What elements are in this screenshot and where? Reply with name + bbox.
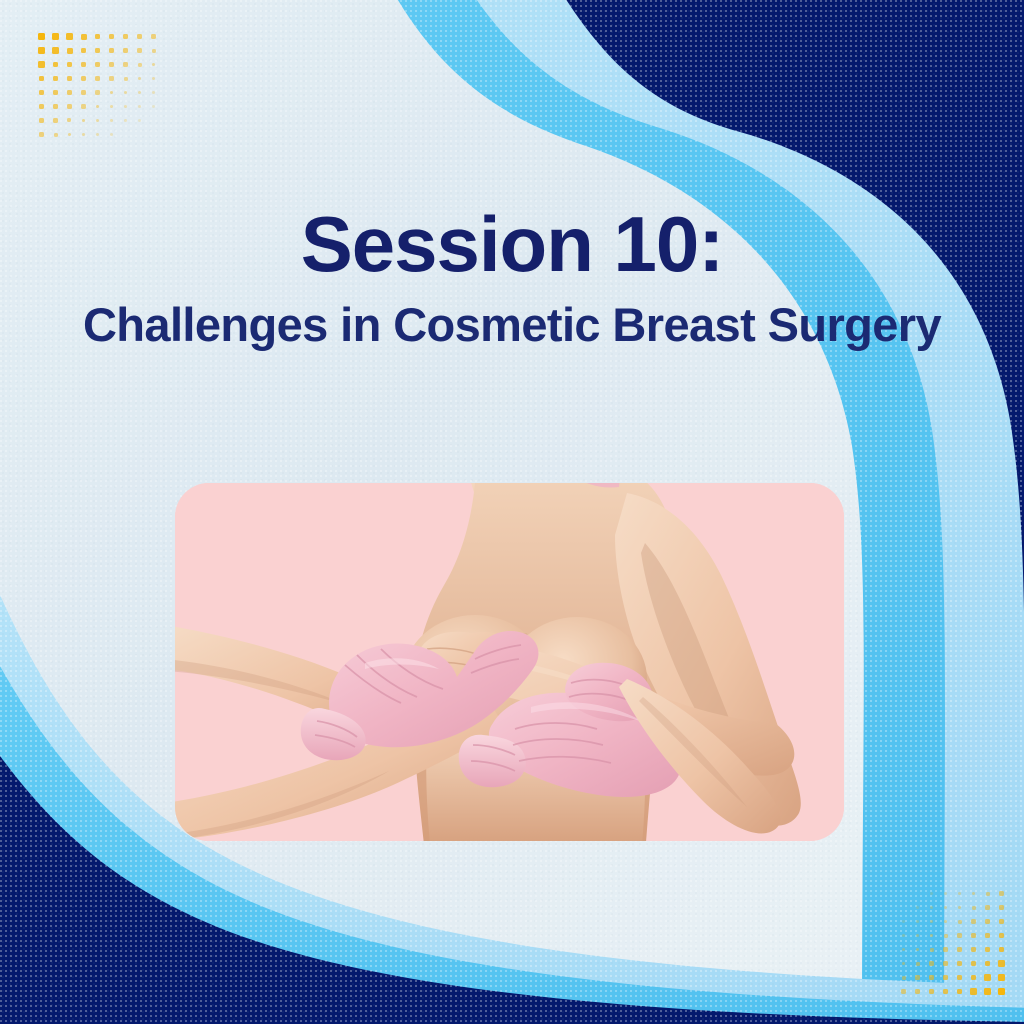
page-title: Session 10: [0,205,1024,285]
dot-grid-dot [930,948,934,952]
dot-grid-dot [944,892,947,895]
dot-grid-dot [901,989,905,993]
dot-grid-dot [39,132,43,136]
dot-grid-dot [152,105,155,108]
dot-grid-dot [138,63,142,67]
dot-grid-dot [152,91,155,94]
dot-grid-dot [81,76,86,81]
dot-grid-dot [81,104,85,108]
dot-grid-top-left [38,33,188,148]
dot-grid-dot [138,105,141,108]
dot-grid-dot [958,906,962,910]
dot-grid-dot [999,919,1004,924]
dot-grid-dot [38,47,45,54]
dot-grid-dot [971,947,976,952]
dot-grid-dot [915,975,919,979]
dot-grid-dot [902,976,906,980]
dot-grid-dot [971,961,977,967]
dot-grid-dot [957,989,963,995]
dot-grid-dot [95,90,99,94]
dot-grid-dot [151,34,155,38]
breast-examination-photo [175,483,844,841]
dot-grid-dot [984,988,991,995]
dot-grid-dot [124,119,127,122]
dot-grid-dot [986,892,990,896]
dot-grid-dot [38,61,44,67]
dot-grid-dot [958,920,962,924]
dot-grid-dot [66,33,72,39]
dot-grid-dot [81,62,86,67]
dot-grid-dot [39,118,44,123]
dot-grid-dot [970,988,976,994]
dot-grid-dot [930,920,933,923]
dot-grid-dot [124,77,128,81]
dot-grid-dot [943,961,948,966]
dot-grid-dot [152,63,156,67]
dot-grid-dot [137,48,141,52]
dot-grid-dot [110,91,114,95]
dot-grid-dot [902,920,905,923]
dot-grid-dot [930,892,933,895]
dot-grid-dot [67,104,72,109]
dot-grid-dot [109,76,113,80]
dot-grid-dot [123,62,127,66]
dot-grid-dot [68,133,72,137]
dot-grid-dot [96,133,99,136]
dot-grid-dot [971,975,977,981]
dot-grid-dot [137,34,142,39]
dot-grid-dot [957,961,962,966]
dot-grid-dot [54,133,58,137]
dot-grid-dot [67,90,72,95]
dot-grid-dot [930,934,934,938]
dot-grid-dot [985,905,989,909]
dot-grid-dot [998,960,1004,966]
dot-grid-dot [124,91,128,95]
dot-grid-dot [81,48,87,54]
dot-grid-dot [95,48,100,53]
dot-grid-dot [109,34,114,39]
dot-grid-dot [916,948,920,952]
dot-grid-dot [902,934,905,937]
dot-grid-dot [943,947,947,951]
dot-grid-dot [81,90,86,95]
dot-grid-dot [985,919,990,924]
dot-grid-dot [916,906,919,909]
dot-grid-dot [916,934,919,937]
slide-canvas: Session 10: Challenges in Cosmetic Breas… [0,0,1024,1024]
dot-grid-dot [109,62,114,67]
dot-grid-dot [957,947,962,952]
dot-grid-dot [915,989,920,994]
dot-grid-dot [53,76,59,82]
dot-grid-dot [95,76,100,81]
dot-grid-dot [67,118,71,122]
dot-grid-dot [123,34,128,39]
dot-grid-dot [999,933,1005,939]
title-block: Session 10: Challenges in Cosmetic Breas… [0,205,1024,350]
dot-grid-dot [152,77,155,80]
dot-grid-dot [972,906,976,910]
dot-grid-dot [95,34,101,40]
dot-grid-dot [957,975,963,981]
dot-grid-dot [124,105,127,108]
dot-grid-dot [943,989,949,995]
dot-grid-dot [109,48,114,53]
dot-grid-dot [39,76,45,82]
dot-grid-dot [985,961,991,967]
dot-grid-dot [52,47,58,53]
dot-grid-dot [971,919,975,923]
dot-grid-dot [53,62,59,68]
dot-grid-dot [999,891,1003,895]
dot-grid-dot [929,975,934,980]
dot-grid-dot [929,961,933,965]
dot-grid-dot [82,133,85,136]
dot-grid-dot [67,76,72,81]
dot-grid-dot [972,892,976,896]
dot-grid-dot [96,119,100,123]
dot-grid-dot [138,119,141,122]
dot-grid-dot [81,34,87,40]
dot-grid-dot [53,90,58,95]
dot-grid-dot [123,48,128,53]
dot-grid-dot [67,48,73,54]
dot-grid-dot [53,104,58,109]
dot-grid-dot [929,989,934,994]
dot-grid-dot [110,119,113,122]
dot-grid-dot [39,90,45,96]
dot-grid-dot [916,920,919,923]
dot-grid-dot [916,962,920,966]
dot-grid-dot [943,975,948,980]
dot-grid-bottom-right [900,890,1020,1005]
dot-grid-dot [985,933,990,938]
dot-grid-dot [38,33,45,40]
dot-grid-dot [52,33,59,40]
dot-grid-dot [998,974,1005,981]
dot-grid-dot [999,947,1005,953]
dot-grid-dot [930,906,933,909]
dot-grid-dot [957,933,961,937]
dot-grid-dot [67,62,73,68]
dot-grid-dot [971,933,976,938]
dot-grid-dot [902,962,906,966]
dot-grid-dot [944,934,948,938]
dot-grid-dot [902,948,905,951]
dot-grid-dot [984,974,990,980]
dot-grid-dot [944,920,948,924]
dot-grid-dot [152,49,156,53]
dot-grid-dot [999,905,1004,910]
dot-grid-dot [53,118,58,123]
dot-grid-dot [138,77,142,81]
dot-grid-dot [110,133,113,136]
dot-grid-dot [96,105,100,109]
dot-grid-dot [985,947,991,953]
dot-grid-dot [110,105,114,109]
dot-grid-dot [95,62,100,67]
dot-grid-dot [998,988,1005,995]
dot-grid-dot [39,104,44,109]
dot-grid-dot [82,119,86,123]
page-subtitle: Challenges in Cosmetic Breast Surgery [0,299,1024,351]
dot-grid-dot [944,906,947,909]
dot-grid-dot [958,892,961,895]
dot-grid-dot [138,91,141,94]
